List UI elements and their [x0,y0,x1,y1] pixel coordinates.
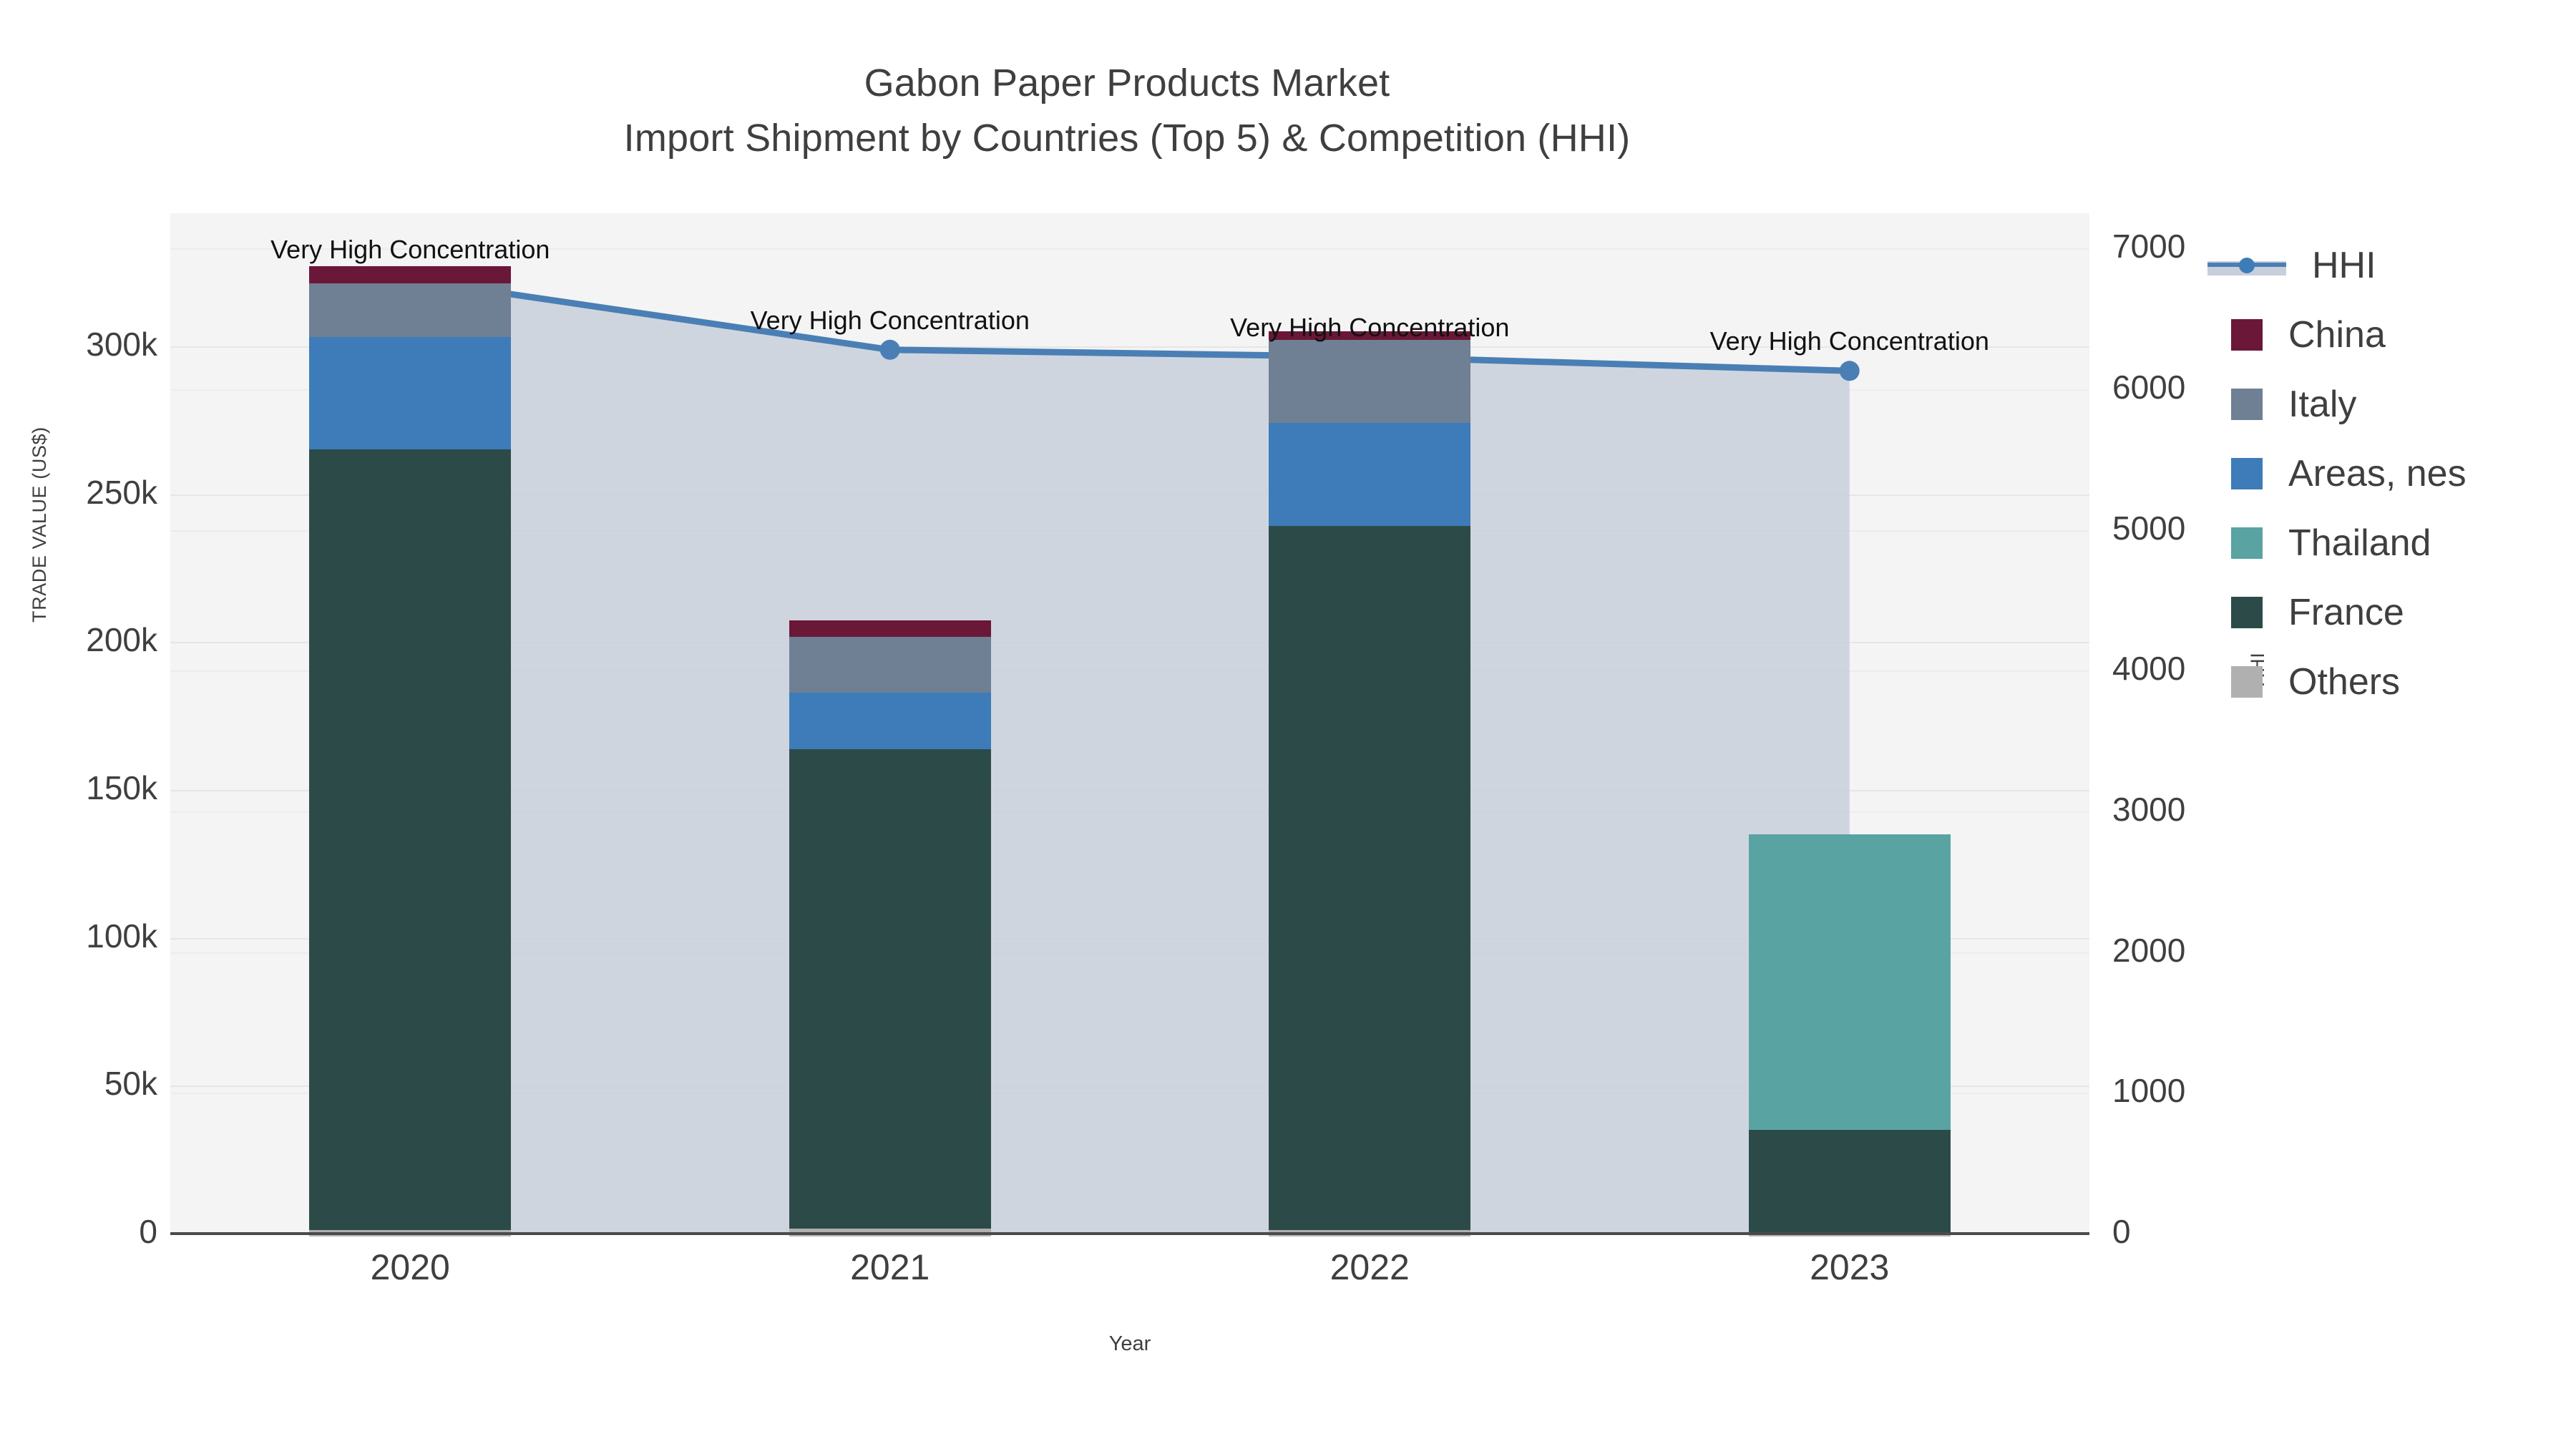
bar-segment-2020-china[interactable] [309,266,511,284]
legend-item-areas-nes[interactable]: Areas, nes [2231,439,2567,508]
legend-item-thailand[interactable]: Thailand [2231,508,2567,577]
chart-legend[interactable]: HHIChinaItalyAreas, nesThailandFranceOth… [2231,230,2567,716]
legend-color-swatch-icon [2231,458,2263,489]
annotation-2023: Very High Concentration [1710,326,1989,356]
y-axis-left-label: TRADE VALUE (US$) [29,426,51,623]
legend-color-swatch-icon [2231,597,2263,628]
legend-label: HHI [2312,244,2376,287]
y-tick-right-7000: 7000 [2112,227,2185,265]
bar-segment-2023-france[interactable] [1749,1130,1951,1232]
y-tick-left-200k: 200k [43,620,157,659]
x-tick-2021: 2021 [747,1246,1033,1288]
y-tick-left-50k: 50k [43,1064,157,1103]
x-tick-2020: 2020 [267,1246,553,1288]
legend-color-swatch-icon [2231,666,2263,698]
annotation-2021: Very High Concentration [751,306,1030,336]
legend-item-italy[interactable]: Italy [2231,369,2567,439]
legend-label: Thailand [2288,522,2431,565]
legend-label: Areas, nes [2288,452,2467,495]
legend-label: China [2288,313,2386,356]
bar-segment-2020-italy[interactable] [309,283,511,336]
x-tick-2023: 2023 [1707,1246,1993,1288]
legend-label: France [2288,591,2404,634]
y-tick-right-1000: 1000 [2112,1071,2185,1110]
y-tick-right-4000: 4000 [2112,649,2185,688]
annotation-2022: Very High Concentration [1230,313,1509,343]
bar-segment-2020-areas-nes[interactable] [309,337,511,449]
bar-segment-2021-areas-nes[interactable] [789,693,991,749]
x-tick-2022: 2022 [1226,1246,1513,1288]
bar-segment-2021-italy[interactable] [789,637,991,693]
y-tick-right-5000: 5000 [2112,509,2185,547]
x-axis-line [170,1232,2089,1235]
legend-line-swatch-icon [2207,250,2286,281]
annotation-2020: Very High Concentration [270,235,550,265]
bar-segment-2022-italy[interactable] [1269,340,1470,423]
legend-item-france[interactable]: France [2231,577,2567,647]
y-tick-left-300k: 300k [43,325,157,364]
legend-item-others[interactable]: Others [2231,647,2567,716]
y-tick-right-2000: 2000 [2112,931,2185,970]
legend-label: Italy [2288,383,2356,426]
chart-figure: Gabon Paper Products Market Import Shipm… [0,0,2576,1449]
bar-segment-2022-areas-nes[interactable] [1269,423,1470,527]
y-tick-right-3000: 3000 [2112,790,2185,829]
bar-segment-2021-france[interactable] [789,749,991,1229]
legend-color-swatch-icon [2231,527,2263,559]
bar-segment-2022-france[interactable] [1269,526,1470,1230]
bar-segment-2020-france[interactable] [309,449,511,1230]
y-tick-left-100k: 100k [43,917,157,955]
legend-label: Others [2288,660,2400,703]
y-tick-right-0: 0 [2112,1212,2131,1251]
bar-segment-2023-thailand[interactable] [1749,834,1951,1130]
y-tick-left-250k: 250k [43,473,157,512]
y-tick-left-0: 0 [43,1212,157,1251]
x-axis-label: Year [170,1332,2089,1356]
legend-color-swatch-icon [2231,389,2263,420]
y-tick-left-150k: 150k [43,769,157,807]
legend-color-swatch-icon [2231,319,2263,351]
y-tick-right-6000: 6000 [2112,368,2185,406]
legend-item-hhi[interactable]: HHI [2231,230,2567,300]
legend-item-china[interactable]: China [2231,300,2567,369]
bar-segment-2021-china[interactable] [789,620,991,637]
